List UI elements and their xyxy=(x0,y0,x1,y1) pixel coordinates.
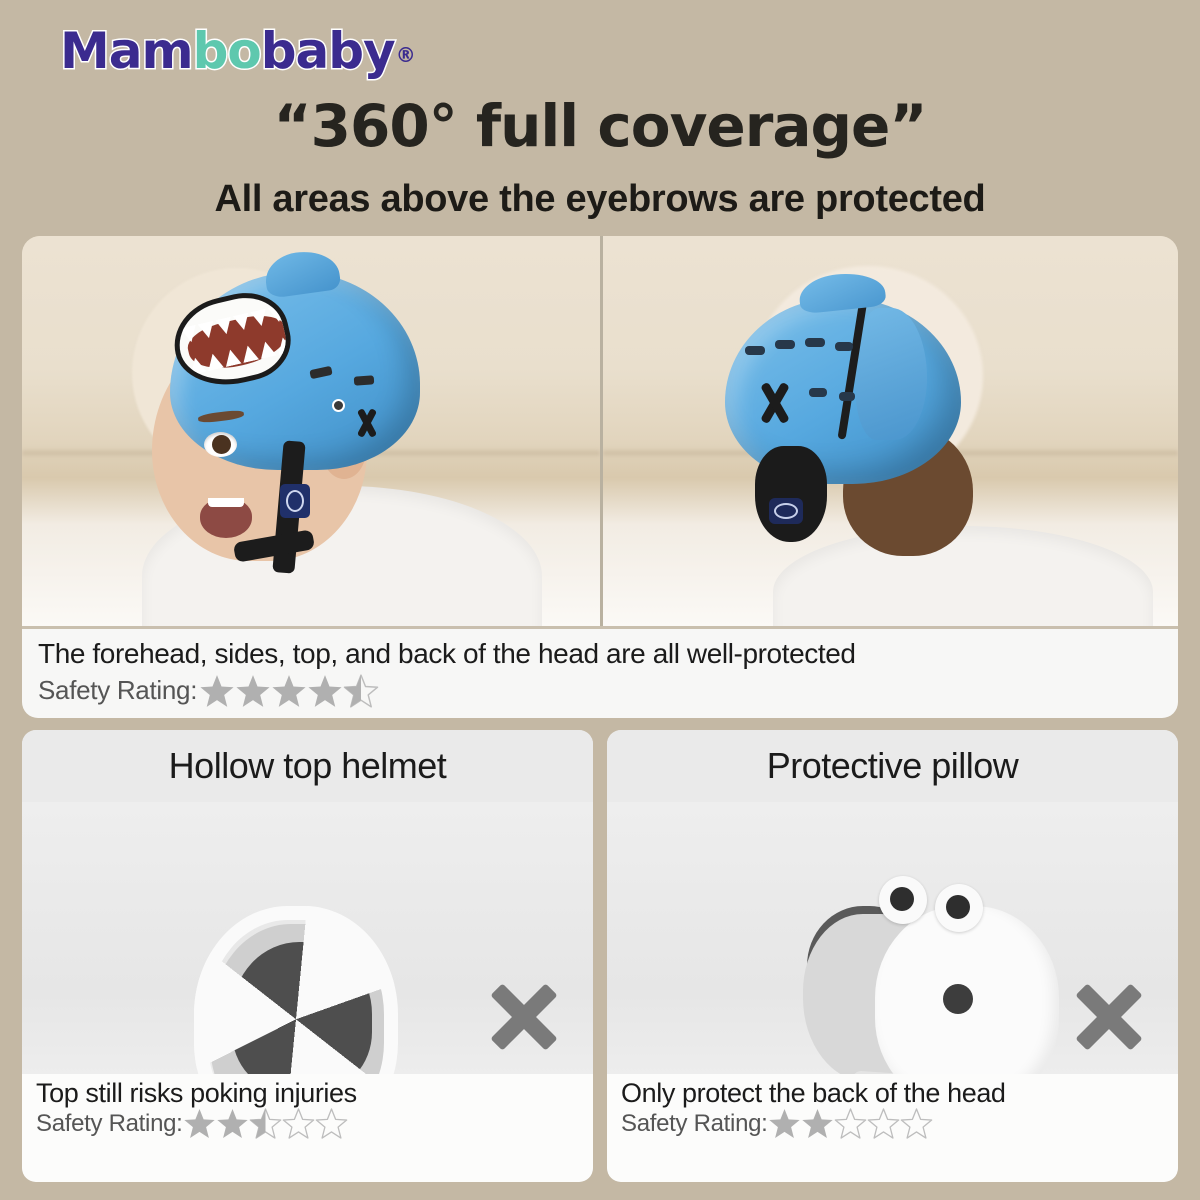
helmet-badge xyxy=(280,484,310,518)
page-subheadline: All areas above the eyebrows are protect… xyxy=(0,178,1200,221)
star-icon xyxy=(801,1107,834,1140)
pillow-eye xyxy=(935,884,983,932)
star-icon xyxy=(768,1107,801,1140)
star-icon xyxy=(216,1107,249,1140)
star-icon xyxy=(199,673,235,709)
hero-star-rating xyxy=(199,673,379,709)
helmet-vent xyxy=(809,388,827,397)
card-caption: Only protect the back of the head xyxy=(621,1078,1164,1109)
card-title: Protective pillow xyxy=(607,730,1178,802)
star-icon xyxy=(282,1107,315,1140)
comparison-card-protective-pillow: Protective pillow Only protect the back … xyxy=(607,730,1178,1182)
star-icon xyxy=(343,673,379,709)
page-headline: “360° full coverage” xyxy=(0,96,1200,157)
helmet-x-mark-icon xyxy=(352,408,382,438)
star-icon xyxy=(867,1107,900,1140)
star-icon xyxy=(249,1107,282,1140)
brand-logo: Mambobaby® xyxy=(60,26,415,76)
x-mark-icon xyxy=(485,978,563,1056)
card-rating-label: Safety Rating: xyxy=(36,1110,183,1138)
card-star-rating xyxy=(183,1107,348,1140)
hero-caption-text: The forehead, sides, top, and back of th… xyxy=(38,635,1162,673)
hero-caption-bar: The forehead, sides, top, and back of th… xyxy=(22,626,1178,718)
star-icon xyxy=(834,1107,867,1140)
star-icon xyxy=(183,1107,216,1140)
helmet-x-mark-icon xyxy=(753,381,797,425)
brand-logo-part-a: Mam xyxy=(60,22,193,80)
hero-photo-back xyxy=(600,236,1178,626)
card-caption: Top still risks poking injuries xyxy=(36,1078,579,1109)
star-icon xyxy=(307,673,343,709)
pillow-nose xyxy=(943,984,973,1014)
card-safety-rating: Safety Rating: xyxy=(621,1107,1164,1140)
pillow-eye xyxy=(879,876,927,924)
helmet-side-pad xyxy=(855,308,927,440)
hero-rating-label: Safety Rating: xyxy=(38,675,197,706)
hero-photo-front xyxy=(22,236,600,626)
card-photo-protective-pillow xyxy=(607,802,1178,1074)
card-title: Hollow top helmet xyxy=(22,730,593,802)
star-icon xyxy=(271,673,307,709)
card-rating-label: Safety Rating: xyxy=(621,1110,768,1138)
star-icon xyxy=(235,673,271,709)
card-star-rating xyxy=(768,1107,933,1140)
comparison-cards: Hollow top helmet Top still risks poking… xyxy=(22,730,1178,1182)
hero-photo-panel xyxy=(22,236,1178,626)
star-icon xyxy=(900,1107,933,1140)
card-safety-rating: Safety Rating: xyxy=(36,1107,579,1140)
comparison-card-hollow-top-helmet: Hollow top helmet Top still risks poking… xyxy=(22,730,593,1182)
star-icon xyxy=(315,1107,348,1140)
helmet-vent xyxy=(354,375,375,385)
helmet-badge xyxy=(769,498,803,524)
baby-mouth xyxy=(200,498,252,538)
helmet-side-dot xyxy=(332,399,345,412)
helmet-ear-cup xyxy=(755,446,827,542)
helmet-vent xyxy=(775,340,795,349)
x-mark-icon xyxy=(1070,978,1148,1056)
helmet-vent xyxy=(745,346,765,355)
brand-logo-part-c: baby xyxy=(261,22,395,80)
hero-safety-rating: Safety Rating: xyxy=(38,673,1162,709)
infographic-page: Mambobaby® “360° full coverage” All area… xyxy=(0,0,1200,1200)
helmet-vent xyxy=(835,342,853,351)
helmet-vent xyxy=(839,392,855,401)
card-footer: Only protect the back of the head Safety… xyxy=(607,1074,1178,1182)
card-photo-hollow-helmet xyxy=(22,802,593,1074)
baby-pupil xyxy=(212,435,231,454)
brand-logo-part-b: bo xyxy=(193,22,261,80)
helmet-vent xyxy=(805,338,825,347)
card-footer: Top still risks poking injuries Safety R… xyxy=(22,1074,593,1182)
registered-trademark-icon: ® xyxy=(396,43,415,67)
